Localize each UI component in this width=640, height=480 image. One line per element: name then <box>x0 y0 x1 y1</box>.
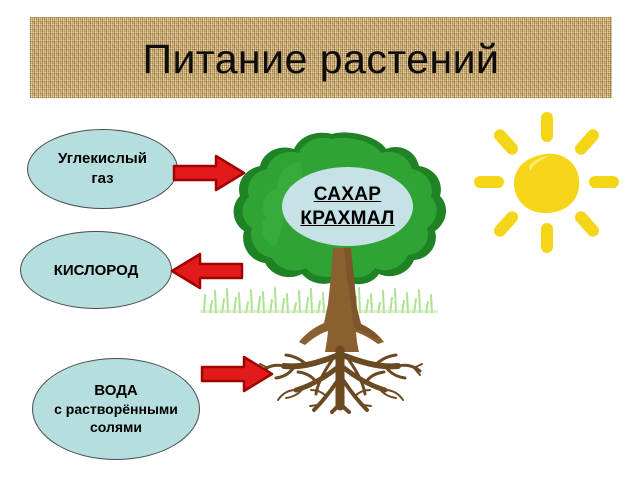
oxygen-line-1: КИСЛОРОД <box>54 262 139 279</box>
carbon-dioxide-callout: Углекислый газ <box>27 129 178 209</box>
slide-canvas: Питание растений <box>0 0 640 480</box>
products-line-2: КРАХМАЛ <box>300 207 394 231</box>
water-line-1: ВОДА <box>94 382 137 400</box>
carbon-dioxide-line-1: Углекислый <box>58 149 147 169</box>
water-intake-arrow-icon <box>200 355 274 393</box>
oxygen-callout: КИСЛОРОД <box>20 231 172 309</box>
page-title: Питание растений <box>143 39 500 80</box>
water-callout: ВОДА с растворёнными солями <box>32 358 200 460</box>
sun-icon <box>473 110 619 256</box>
products-label: САХАР КРАХМАЛ <box>282 167 413 246</box>
water-line-3: солями <box>90 418 142 436</box>
products-line-1: САХАР <box>314 183 382 207</box>
carbon-dioxide-line-2: газ <box>91 169 113 189</box>
title-banner: Питание растений <box>30 17 612 98</box>
oxygen-release-arrow-icon <box>170 252 244 290</box>
carbon-dioxide-intake-arrow-icon <box>172 154 246 192</box>
water-line-2: с растворёнными <box>54 400 178 418</box>
